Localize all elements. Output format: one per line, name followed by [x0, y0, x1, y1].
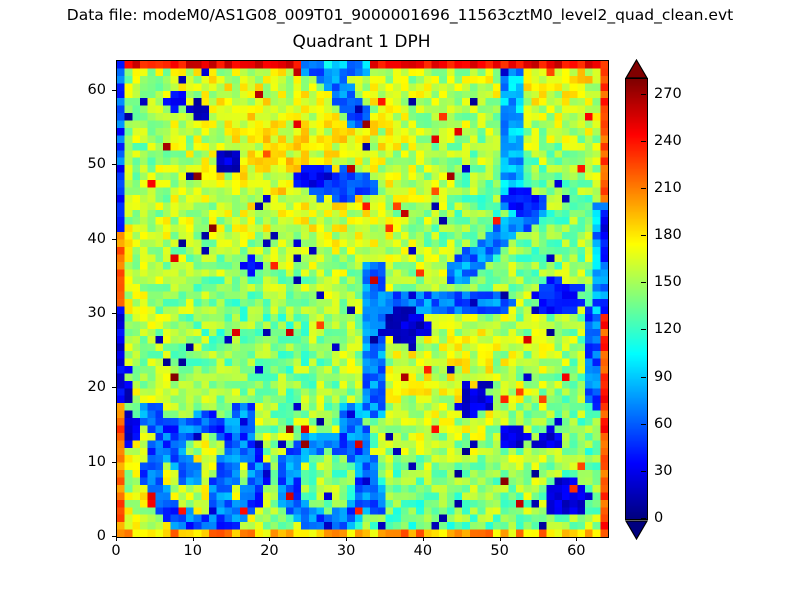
- y-tick-mark: [112, 536, 116, 537]
- x-tick-label: 20: [260, 543, 278, 559]
- colorbar-tick-label: 60: [654, 416, 672, 432]
- heatmap-plot-area[interactable]: [116, 60, 609, 538]
- x-tick-label: 0: [111, 543, 120, 559]
- colorbar-tick-mark: [641, 188, 646, 189]
- colorbar-tick-label: 210: [654, 180, 682, 196]
- y-tick-mark: [112, 313, 116, 314]
- colorbar-tick-mark: [641, 377, 646, 378]
- colorbar-tick-mark: [641, 518, 646, 519]
- x-tick-mark: [346, 537, 347, 541]
- y-tick-label: 40: [66, 231, 106, 247]
- colorbar-tick-mark: [641, 141, 646, 142]
- colorbar-tick-mark: [641, 424, 646, 425]
- x-tick-mark: [576, 537, 577, 541]
- y-tick-mark: [112, 387, 116, 388]
- colorbar-extend-min-arrow: [625, 520, 646, 538]
- colorbar-tick-mark: [641, 471, 646, 472]
- x-tick-label: 40: [414, 543, 432, 559]
- y-tick-label: 10: [66, 454, 106, 470]
- y-tick-label: 50: [66, 156, 106, 172]
- x-tick-mark: [423, 537, 424, 541]
- colorbar-tick-label: 30: [654, 463, 672, 479]
- x-tick-label: 60: [567, 543, 585, 559]
- heatmap-image[interactable]: [117, 61, 608, 537]
- axes-title: Quadrant 1 DPH: [116, 32, 607, 52]
- colorbar-tick-mark: [641, 329, 646, 330]
- colorbar-gradient: [626, 79, 647, 519]
- y-tick-label: 60: [66, 82, 106, 98]
- colorbar-tick-label: 90: [654, 369, 672, 385]
- colorbar-tick-label: 270: [654, 86, 682, 102]
- y-tick-mark: [112, 164, 116, 165]
- x-tick-mark: [116, 537, 117, 541]
- colorbar-tick-label: 240: [654, 133, 682, 149]
- x-tick-mark: [500, 537, 501, 541]
- y-tick-mark: [112, 239, 116, 240]
- colorbar[interactable]: [625, 78, 648, 520]
- y-tick-label: 30: [66, 305, 106, 321]
- colorbar-tick-mark: [641, 235, 646, 236]
- colorbar-tick-label: 180: [654, 227, 682, 243]
- x-tick-label: 30: [337, 543, 355, 559]
- x-tick-label: 50: [490, 543, 508, 559]
- figure-canvas: Data file: modeM0/AS1G08_009T01_90000016…: [0, 0, 800, 600]
- y-tick-mark: [112, 90, 116, 91]
- colorbar-tick-mark: [641, 94, 646, 95]
- y-tick-label: 20: [66, 379, 106, 395]
- colorbar-tick-label: 0: [654, 510, 663, 526]
- colorbar-tick-label: 120: [654, 321, 682, 337]
- y-tick-mark: [112, 462, 116, 463]
- colorbar-tick-mark: [641, 282, 646, 283]
- x-tick-mark: [193, 537, 194, 541]
- colorbar-extend-max-arrow: [625, 59, 646, 77]
- x-tick-mark: [269, 537, 270, 541]
- colorbar-tick-label: 150: [654, 274, 682, 290]
- y-tick-label: 0: [66, 528, 106, 544]
- figure-suptitle: Data file: modeM0/AS1G08_009T01_90000016…: [0, 6, 800, 24]
- x-tick-label: 10: [183, 543, 201, 559]
